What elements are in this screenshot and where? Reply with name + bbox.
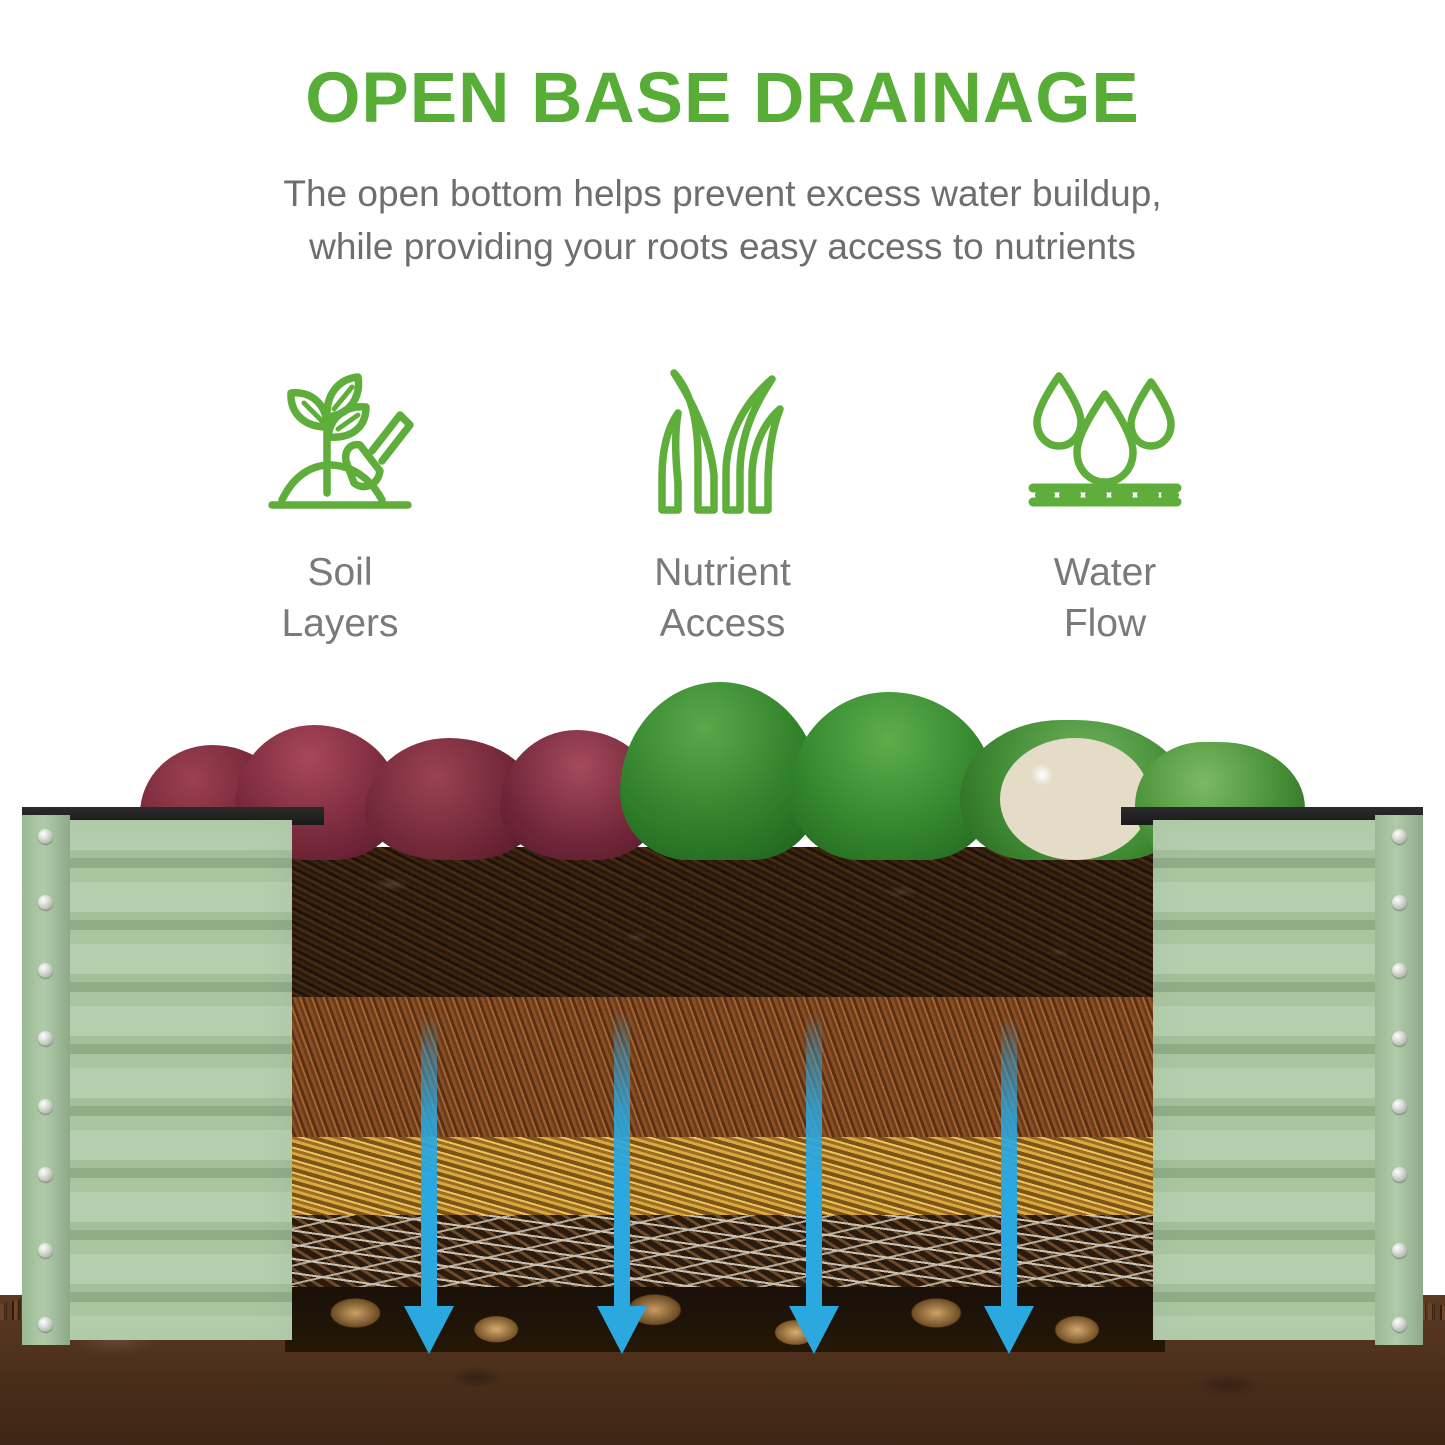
page-title: OPEN BASE DRAINAGE: [0, 62, 1445, 137]
subtitle-line-1: The open bottom helps prevent excess wat…: [0, 168, 1445, 221]
label-line-1: Water: [1054, 547, 1157, 598]
feature-nutrient-access: Nutrient Access: [573, 360, 873, 650]
screw: [1392, 1099, 1407, 1114]
water-flow-arrow: [995, 1017, 1023, 1310]
garden-bed-illustration: [0, 655, 1445, 1445]
screw: [1392, 1167, 1407, 1182]
screw: [38, 829, 53, 844]
feature-label-nutrient-access: Nutrient Access: [654, 547, 791, 650]
plant-cauliflower-head: [1000, 738, 1150, 860]
bed-corner-post-left: [22, 815, 70, 1345]
plant-green-cabbage: [620, 682, 820, 860]
screw: [1392, 1031, 1407, 1046]
soil-layer-topsoil: [285, 847, 1165, 997]
grass-blades-icon: [648, 360, 798, 525]
arrow-shaft: [1001, 1017, 1017, 1310]
arrow-shaft: [806, 1013, 822, 1310]
feature-water-flow: Water Flow: [955, 360, 1255, 650]
plant-shovel-icon: [260, 360, 420, 525]
arrow-shaft: [614, 1010, 630, 1310]
label-line-1: Nutrient: [654, 547, 791, 598]
screw: [1392, 1317, 1407, 1332]
screw: [1392, 895, 1407, 910]
screw: [1392, 1243, 1407, 1258]
subtitle-line-2: while providing your roots easy access t…: [0, 221, 1445, 274]
screw: [38, 1031, 53, 1046]
product-feature-graphic: OPEN BASE DRAINAGE The open bottom helps…: [0, 0, 1445, 1445]
label-line-2: Flow: [1054, 598, 1157, 649]
screw: [38, 963, 53, 978]
label-line-2: Layers: [281, 598, 398, 649]
feature-label-soil-layers: Soil Layers: [281, 547, 398, 650]
water-flow-arrow: [608, 1010, 636, 1310]
screw: [38, 895, 53, 910]
label-line-1: Soil: [281, 547, 398, 598]
screw: [1392, 963, 1407, 978]
label-line-2: Access: [654, 598, 791, 649]
screw: [38, 1317, 53, 1332]
screw: [38, 1167, 53, 1182]
water-droplets-ground-icon: [1025, 360, 1185, 525]
bed-corner-post-right: [1375, 815, 1423, 1345]
water-flow-arrow: [415, 1015, 443, 1310]
water-flow-arrow: [800, 1013, 828, 1310]
vegetable-row: [140, 655, 1305, 860]
page-subtitle: The open bottom helps prevent excess wat…: [0, 168, 1445, 273]
screw: [38, 1099, 53, 1114]
screw: [1392, 829, 1407, 844]
arrow-shaft: [421, 1015, 437, 1310]
feature-label-water-flow: Water Flow: [1054, 547, 1157, 650]
feature-highlights-row: Soil Layers Nutrient Acces: [190, 360, 1255, 650]
feature-soil-layers: Soil Layers: [190, 360, 490, 650]
screw: [38, 1243, 53, 1258]
